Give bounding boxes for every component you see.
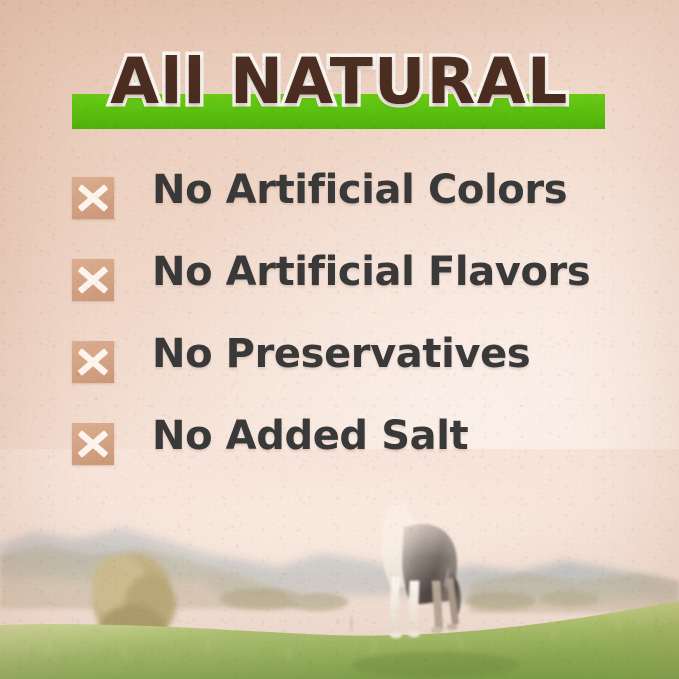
- list-item-label: No Artificial Colors: [152, 167, 567, 213]
- all-natural-poster: All NATURAL All NATURAL No Artificial Co…: [0, 0, 679, 679]
- x-mark-icon: [72, 177, 114, 219]
- list-item-label: No Added Salt: [152, 413, 468, 459]
- list-item: No Preservatives: [72, 323, 632, 405]
- x-mark-icon: [72, 259, 114, 301]
- list-item: No Artificial Colors: [72, 159, 632, 241]
- list-item-label: No Preservatives: [152, 331, 530, 377]
- list-item-label: No Artificial Flavors: [152, 249, 590, 295]
- banner: All NATURAL All NATURAL: [0, 44, 679, 136]
- x-mark-icon: [72, 341, 114, 383]
- x-mark-icon: [72, 423, 114, 465]
- list-item: No Artificial Flavors: [72, 241, 632, 323]
- feature-list: No Artificial Colors No Artificial Flavo…: [72, 159, 632, 487]
- list-item: No Added Salt: [72, 405, 632, 487]
- page-title-fill: All NATURAL: [0, 44, 679, 120]
